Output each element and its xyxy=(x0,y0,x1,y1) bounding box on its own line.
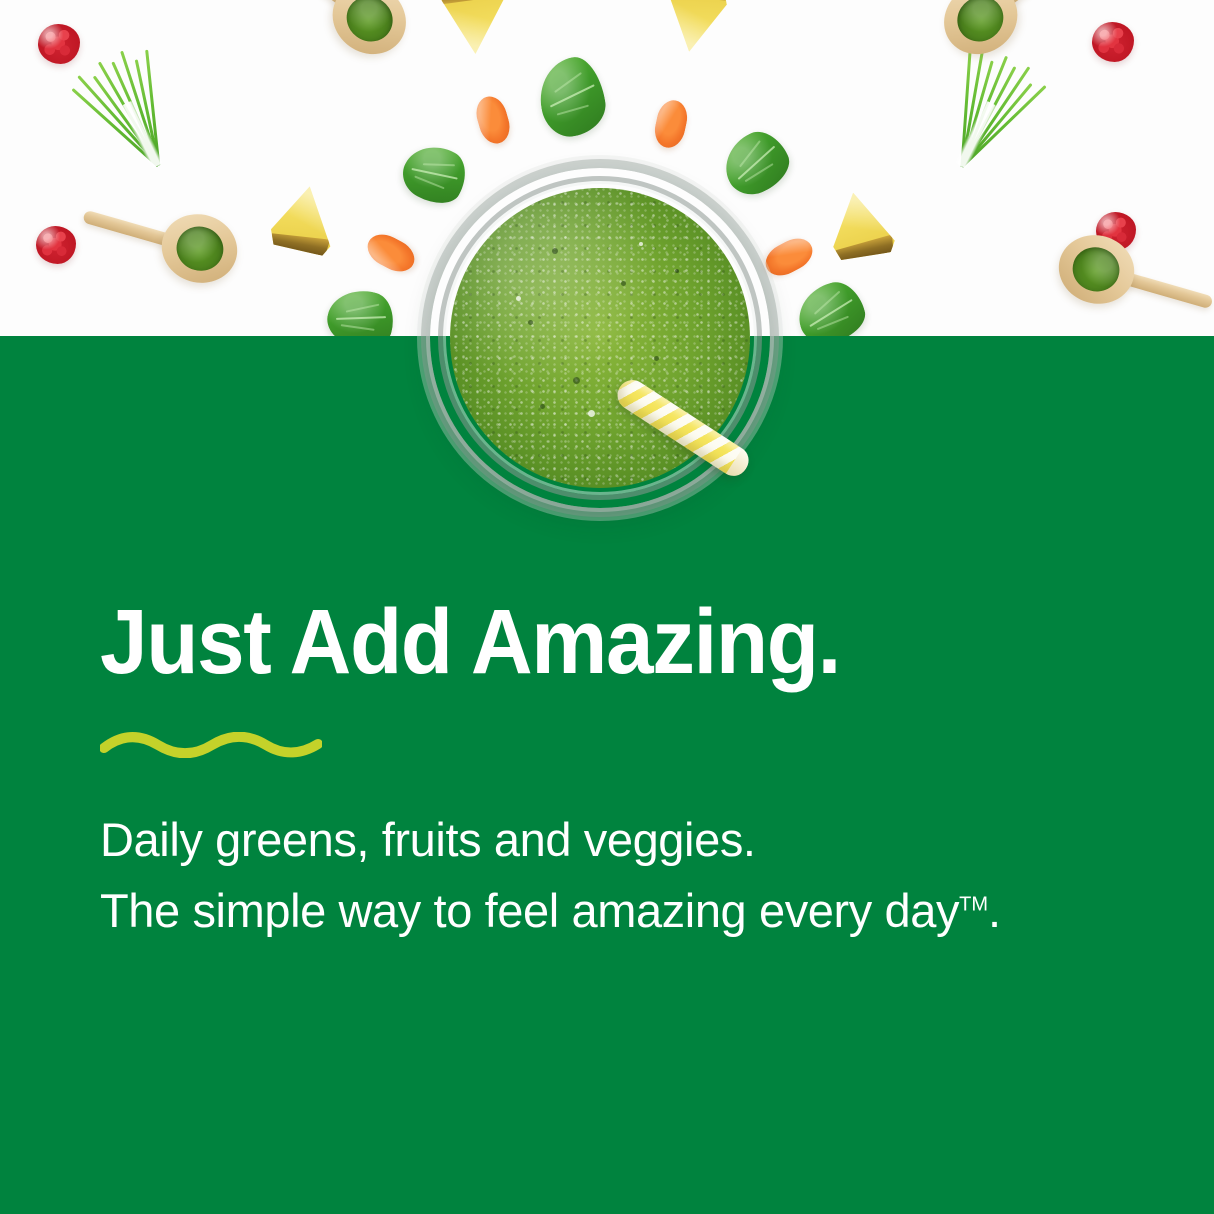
trademark-symbol: TM xyxy=(959,894,988,916)
raspberry-icon xyxy=(36,226,76,264)
wooden-spoon-with-green-powder-icon xyxy=(74,182,245,293)
carrot-slice-icon xyxy=(472,93,514,147)
pineapple-wedge-icon xyxy=(657,0,730,56)
spinach-leaf-icon xyxy=(534,53,611,141)
page-title: Just Add Amazing. xyxy=(100,596,1049,688)
pineapple-wedge-icon xyxy=(267,181,341,257)
carrot-slice-icon xyxy=(760,232,818,282)
spinach-leaf-icon xyxy=(791,276,870,336)
wheatgrass-bundle-icon xyxy=(73,43,189,182)
pineapple-wedge-icon xyxy=(438,0,509,56)
hero-copy-block: Just Add Amazing. Daily greens, fruits a… xyxy=(100,596,1120,947)
spinach-leaf-icon xyxy=(322,283,400,336)
subcopy-line-2-text: The simple way to feel amazing every day… xyxy=(100,884,1001,937)
wheatgrass-bundle-icon xyxy=(929,43,1045,182)
wooden-spoon-with-green-powder-icon xyxy=(258,0,420,69)
carrot-slice-icon xyxy=(362,228,420,278)
subcopy-line-1: Daily greens, fruits and veggies. xyxy=(100,804,1120,875)
marketing-hero-banner: Just Add Amazing. Daily greens, fruits a… xyxy=(0,0,1214,1214)
hero-subcopy: Daily greens, fruits and veggies. The si… xyxy=(100,804,1120,947)
wavy-divider-icon xyxy=(100,732,322,758)
raspberry-icon xyxy=(38,24,80,64)
pineapple-wedge-icon xyxy=(822,186,898,264)
raspberry-icon xyxy=(1092,22,1134,62)
spinach-leaf-icon xyxy=(715,123,798,203)
carrot-slice-icon xyxy=(651,97,690,150)
subcopy-line-2: The simple way to feel amazing every day… xyxy=(100,875,1120,946)
spinach-leaf-icon xyxy=(394,135,475,214)
